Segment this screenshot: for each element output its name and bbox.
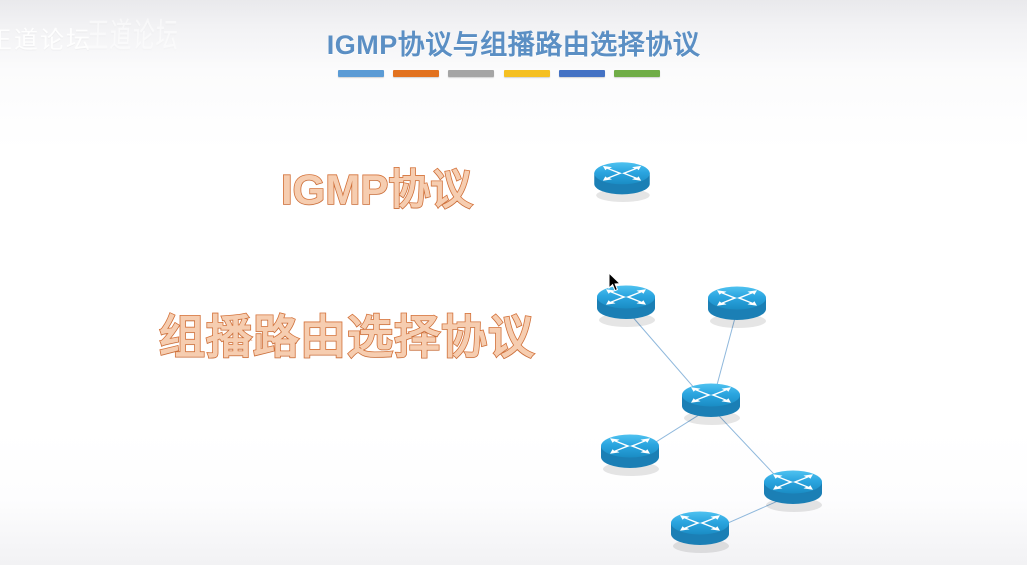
network-topology-diagram: [0, 0, 1027, 565]
router-center: [680, 379, 742, 425]
router-top-left: [595, 281, 657, 327]
topology-link-layer: [0, 0, 1027, 565]
router-bottom: [669, 507, 731, 553]
router-solo: [592, 158, 652, 202]
router-mid-left: [599, 430, 661, 476]
mouse-cursor: [608, 272, 622, 292]
router-lower-right: [762, 466, 824, 512]
presentation-slide: 王道论坛 王道论坛 IGMP协议与组播路由选择协议 IGMP协议 组播路由选择协…: [0, 0, 1027, 565]
router-top-right: [706, 282, 768, 328]
